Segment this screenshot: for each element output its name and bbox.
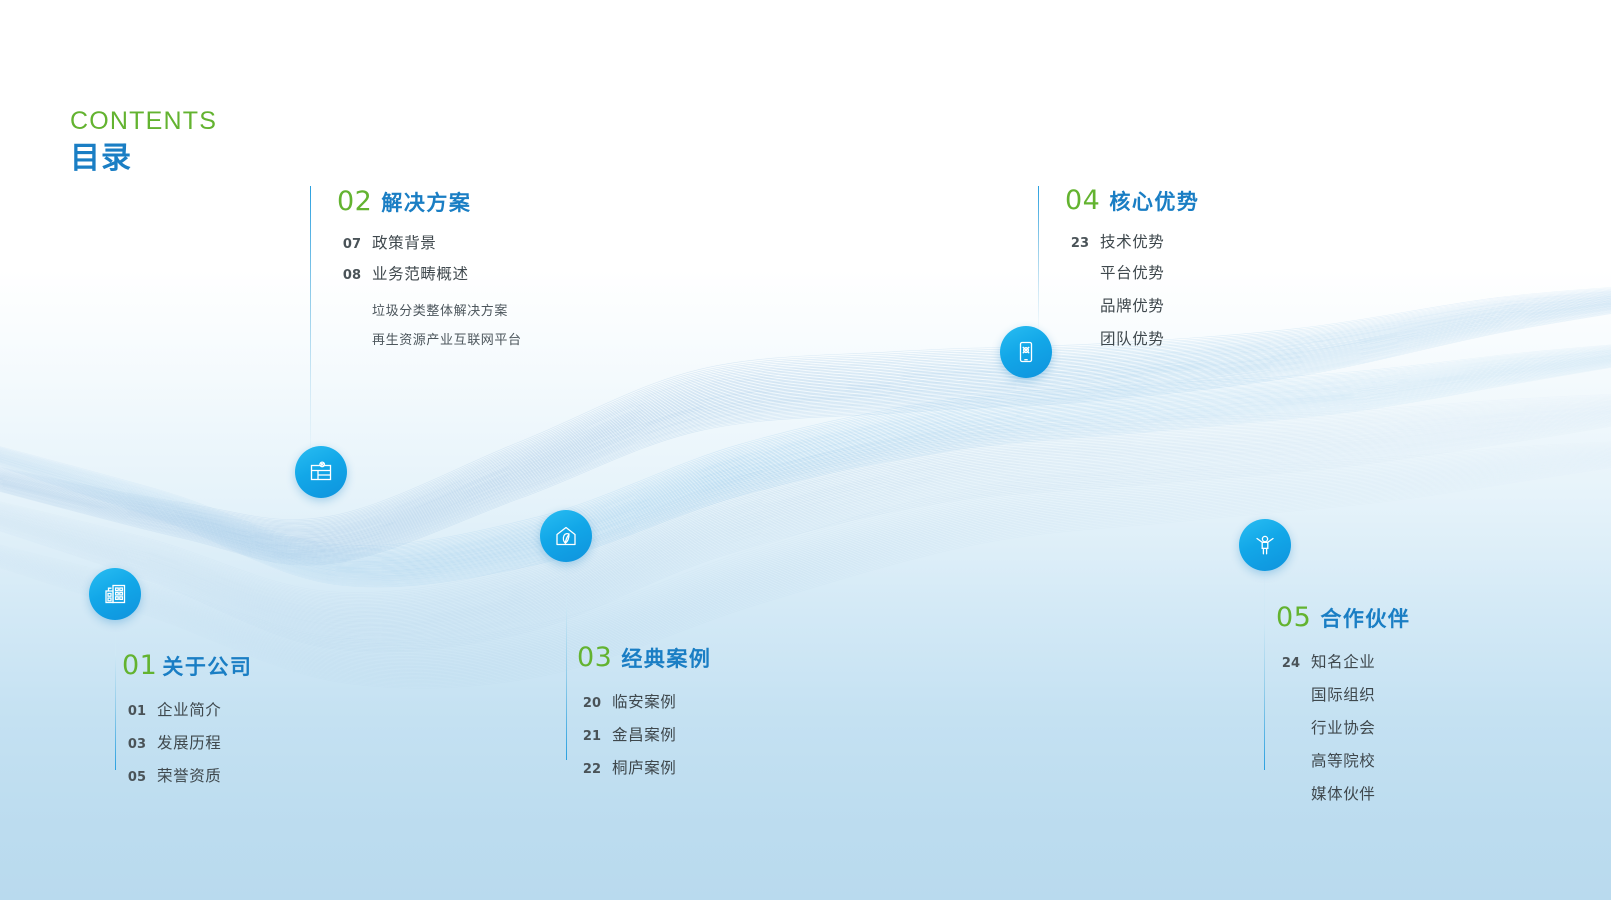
item-page-number: 23	[1065, 236, 1089, 251]
contents-label-en: CONTENTS	[70, 108, 217, 136]
mobile-phone-icon	[1012, 338, 1040, 366]
pin-03[interactable]	[540, 510, 592, 562]
section-items-04: 23 技术优势 平台优势 品牌优势 团队优势	[1065, 230, 1199, 349]
list-item[interactable]: 再生资源产业互联网平台	[337, 329, 522, 348]
item-label: 发展历程	[157, 731, 221, 753]
list-item[interactable]: 媒体伙伴	[1276, 782, 1410, 804]
item-page-number: 22	[577, 762, 601, 777]
section-block-04[interactable]: 04 核心优势 23 技术优势 平台优势 品牌优势 团队优势	[1065, 185, 1199, 358]
item-page-number: 07	[337, 237, 361, 252]
item-label: 垃圾分类整体解决方案	[372, 300, 508, 319]
section-heading-02: 02 解决方案	[337, 186, 522, 217]
list-item[interactable]: 22 桐庐案例	[577, 756, 711, 778]
section-block-05[interactable]: 05 合作伙伴 24 知名企业 国际组织 行业协会 高等院校 媒体伙伴	[1276, 602, 1410, 813]
item-label: 平台优势	[1100, 261, 1164, 283]
connector-line-04	[1038, 186, 1039, 334]
person-cheering-icon	[1251, 531, 1279, 559]
item-label: 再生资源产业互联网平台	[372, 329, 522, 348]
connector-line-01	[115, 610, 116, 770]
section-block-02[interactable]: 02 解决方案 07 政策背景 08 业务范畴概述 垃圾分类整体解决方案 再生资…	[337, 186, 522, 358]
list-item[interactable]: 08 业务范畴概述	[337, 262, 522, 284]
connector-line-03	[566, 545, 567, 760]
item-label: 荣誉资质	[157, 764, 221, 786]
section-title-04: 核心优势	[1109, 186, 1199, 216]
item-label: 知名企业	[1311, 650, 1375, 672]
section-number-02: 02	[337, 186, 372, 217]
item-label: 企业简介	[157, 698, 221, 720]
page-title-block: CONTENTS 目录	[70, 108, 217, 175]
list-item[interactable]: 垃圾分类整体解决方案	[337, 300, 522, 319]
list-item[interactable]: 01 企业简介	[122, 698, 252, 720]
item-label: 业务范畴概述	[372, 262, 469, 284]
list-item[interactable]: 行业协会	[1276, 716, 1410, 738]
section-number-04: 04	[1065, 185, 1100, 216]
section-items-01: 01 企业简介 03 发展历程 05 荣誉资质	[122, 698, 252, 786]
list-item[interactable]: 平台优势	[1065, 261, 1199, 283]
item-label: 桐庐案例	[612, 756, 676, 778]
section-title-03: 经典案例	[621, 643, 711, 673]
list-item[interactable]: 国际组织	[1276, 683, 1410, 705]
section-heading-01: 01 关于公司	[122, 650, 252, 681]
item-label: 政策背景	[372, 231, 436, 253]
list-item[interactable]: 团队优势	[1065, 327, 1199, 349]
list-item[interactable]: 24 知名企业	[1276, 650, 1410, 672]
section-number-05: 05	[1276, 602, 1311, 633]
item-label: 行业协会	[1311, 716, 1375, 738]
building-icon	[101, 580, 129, 608]
browser-window-icon	[307, 458, 335, 486]
list-item[interactable]: 20 临安案例	[577, 690, 711, 712]
item-label: 技术优势	[1100, 230, 1164, 252]
section-title-02: 解决方案	[381, 187, 471, 217]
item-page-number: 01	[122, 704, 146, 719]
pin-01[interactable]	[89, 568, 141, 620]
item-page-number: 24	[1276, 656, 1300, 671]
item-label: 高等院校	[1311, 749, 1375, 771]
list-item[interactable]: 21 金昌案例	[577, 723, 711, 745]
section-heading-05: 05 合作伙伴	[1276, 602, 1410, 633]
connector-line-02	[310, 186, 311, 466]
section-heading-04: 04 核心优势	[1065, 185, 1199, 216]
section-items-03: 20 临安案例 21 金昌案例 22 桐庐案例	[577, 690, 711, 778]
contents-slide: CONTENTS 目录 02 解决方案 07 政策背景 08 业务范畴概述 垃圾…	[0, 0, 1611, 900]
item-page-number: 03	[122, 737, 146, 752]
item-page-number: 08	[337, 268, 361, 283]
item-label: 临安案例	[612, 690, 676, 712]
item-label: 品牌优势	[1100, 294, 1164, 316]
item-page-number: 21	[577, 729, 601, 744]
item-page-number: 05	[122, 770, 146, 785]
section-title-01: 关于公司	[162, 651, 252, 681]
item-page-number: 20	[577, 696, 601, 711]
list-item[interactable]: 高等院校	[1276, 749, 1410, 771]
list-item[interactable]: 03 发展历程	[122, 731, 252, 753]
list-item[interactable]: 23 技术优势	[1065, 230, 1199, 252]
item-label: 团队优势	[1100, 327, 1164, 349]
pin-04[interactable]	[1000, 326, 1052, 378]
section-items-05: 24 知名企业 国际组织 行业协会 高等院校 媒体伙伴	[1276, 650, 1410, 804]
pin-02[interactable]	[295, 446, 347, 498]
item-label: 国际组织	[1311, 683, 1375, 705]
list-item[interactable]: 07 政策背景	[337, 231, 522, 253]
list-item[interactable]: 05 荣誉资质	[122, 764, 252, 786]
list-item[interactable]: 品牌优势	[1065, 294, 1199, 316]
item-label: 金昌案例	[612, 723, 676, 745]
section-block-01[interactable]: 01 关于公司 01 企业简介 03 发展历程 05 荣誉资质	[122, 650, 252, 795]
eco-house-icon	[552, 522, 580, 550]
section-items-02: 07 政策背景 08 业务范畴概述 垃圾分类整体解决方案 再生资源产业互联网平台	[337, 231, 522, 348]
contents-label-cn: 目录	[70, 142, 217, 175]
section-block-03[interactable]: 03 经典案例 20 临安案例 21 金昌案例 22 桐庐案例	[577, 642, 711, 787]
pin-05[interactable]	[1239, 519, 1291, 571]
section-heading-03: 03 经典案例	[577, 642, 711, 673]
section-title-05: 合作伙伴	[1320, 603, 1410, 633]
connector-line-05	[1264, 565, 1265, 770]
section-number-01: 01	[122, 650, 157, 681]
item-label: 媒体伙伴	[1311, 782, 1375, 804]
section-number-03: 03	[577, 642, 612, 673]
